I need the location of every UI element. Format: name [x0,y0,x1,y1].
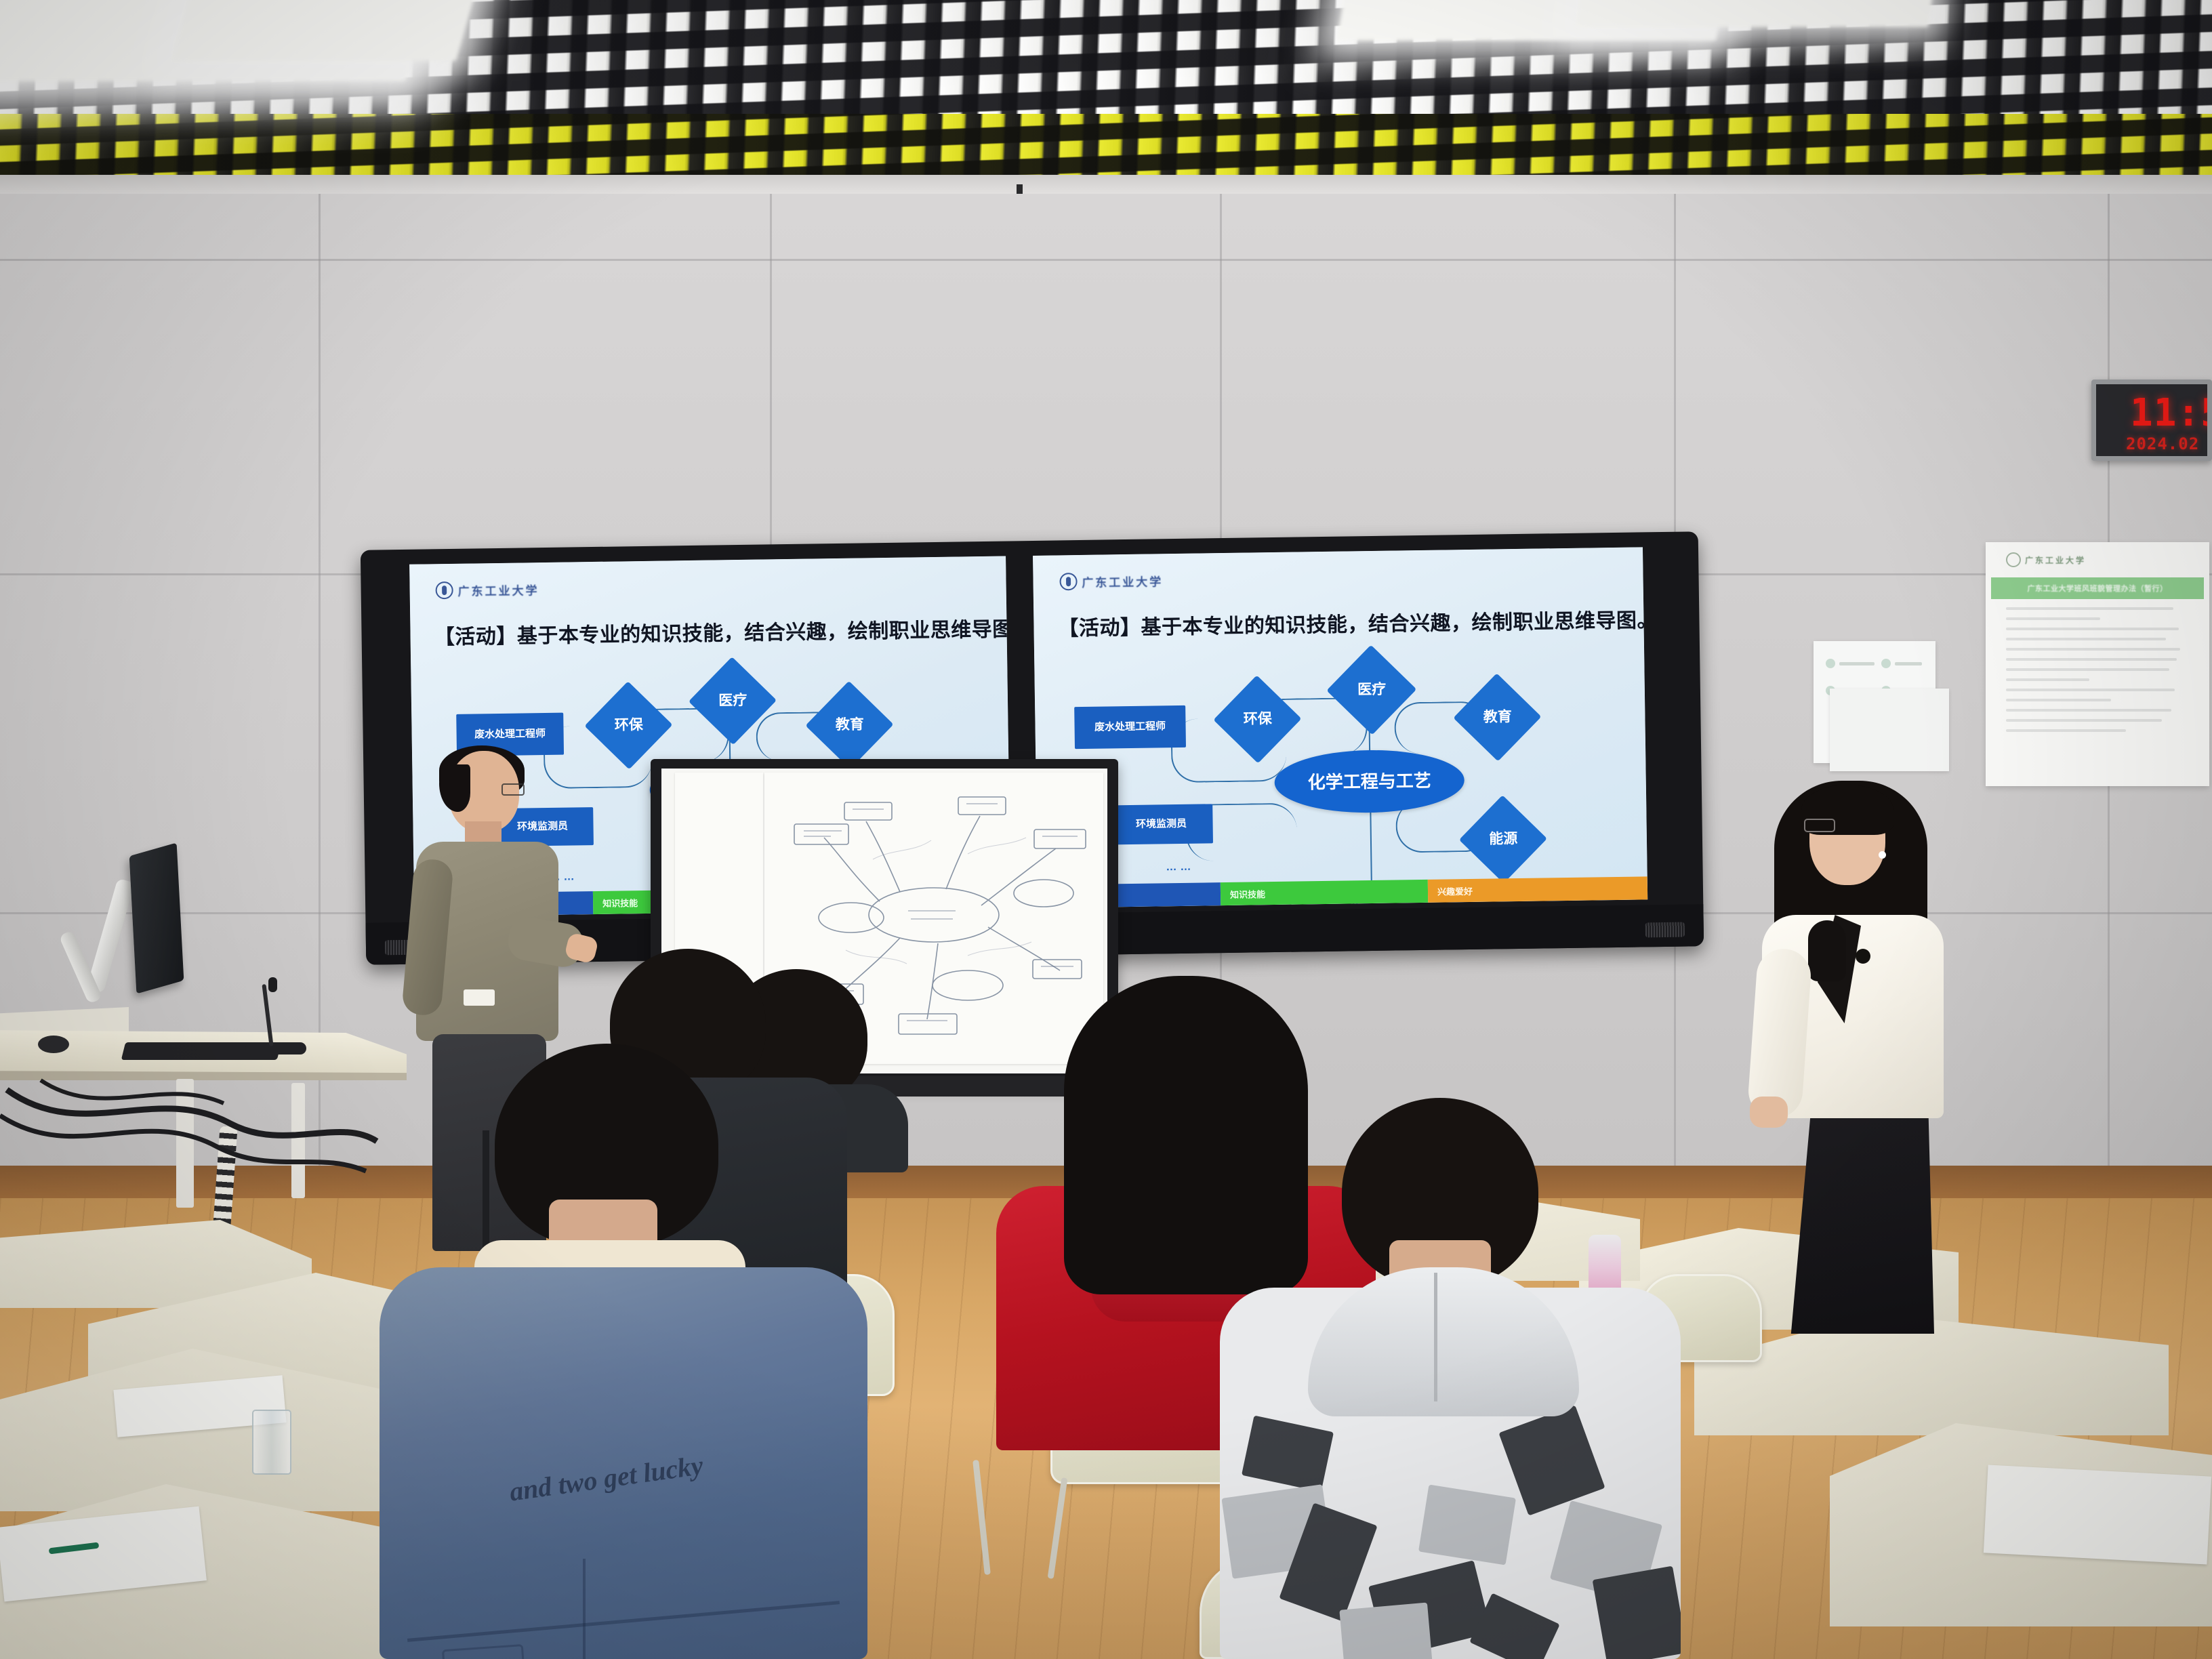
ceiling-baffle-grid [0,0,2212,194]
mindmap-right: 废水处理工程师 环境监测员 环保 医疗 教育 能源 化学工程与工艺 …… …… [1034,653,1647,908]
right-display-screen[interactable]: 广东工业大学 【活动】基于本专业的知识技能，结合兴趣，绘制职业思维导图。 废水处… [1033,547,1647,908]
podium-monitor[interactable] [129,842,184,994]
footer-seg-2: 知识技能 [1221,880,1428,905]
slide-title-right: 【活动】基于本专业的知识技能，结合兴趣，绘制职业思维导图。 [1058,604,1626,642]
paper-sheet [1984,1465,2211,1564]
podium-mouse[interactable] [38,1036,69,1053]
poster-header: 广东工业大学 [1986,542,2209,577]
ellipsis-left: …… [1166,861,1194,874]
ceiling-light-panel [171,0,479,61]
student-camo [1220,1098,1681,1659]
slide-logo-text: 广东工业大学 [457,581,539,599]
poster-body-text [2006,607,2188,739]
microphone-icon[interactable] [268,977,277,992]
wall-sign-blank-panel [1830,689,1949,771]
slide-university-logo: 广东工业大学 [1059,571,1163,590]
slide-logo-text: 广东工业大学 [1082,572,1163,590]
ceiling-light-panel [1576,0,1935,27]
teacher [1735,781,1959,1336]
ceiling-wall-junction [0,175,2212,195]
glasses-icon [501,783,525,796]
node-leaf-2: 环境监测员 [1109,804,1213,844]
clock-date: 2024.02 [2126,434,2199,453]
slide-university-logo: 广东工业大学 [435,580,539,599]
university-logo-icon [2006,552,2021,567]
wall-poster: 广东工业大学 广东工业大学班风班貌管理办法（暂行） [1986,542,2209,786]
university-crest-icon [435,581,453,599]
glasses-icon [1804,819,1835,832]
microphone-base [245,1042,306,1054]
earring-icon [1879,851,1886,859]
digital-wall-clock: 11:5 2024.02 [2091,380,2212,461]
clock-time: 11:5 [2130,391,2212,435]
lapel-microphone-icon [1856,949,1870,964]
poster-title-text: 广东工业大学班风班貌管理办法（暂行） [2028,583,2168,594]
classroom-photo: 11:5 2024.02 广东工业大学 广东工业大学班风班貌管理办法（暂行） [0,0,2212,1659]
poster-title-banner: 广东工业大学班风班貌管理办法（暂行） [1991,577,2204,599]
node-leaf-1: 废水处理工程师 [1074,705,1186,749]
poster-org-name: 广东工业大学 [2025,554,2086,566]
water-cup [252,1410,291,1475]
footer-seg-3: 兴趣爱好 [1428,876,1647,903]
podium-cables [0,1076,380,1185]
bow-tie [1808,920,1846,981]
slide-right: 广东工业大学 【活动】基于本专业的知识技能，结合兴趣，绘制职业思维导图。 废水处… [1033,547,1647,908]
sweatshirt-patch [464,989,495,1006]
speaker-grille-right [1645,922,1685,938]
slide-title-left: 【活动】基于本专业的知识技能，结合兴趣，绘制职业思维导图。 [434,613,989,650]
university-crest-icon [1059,573,1077,590]
student-denim: and two get lucky [380,1044,867,1659]
